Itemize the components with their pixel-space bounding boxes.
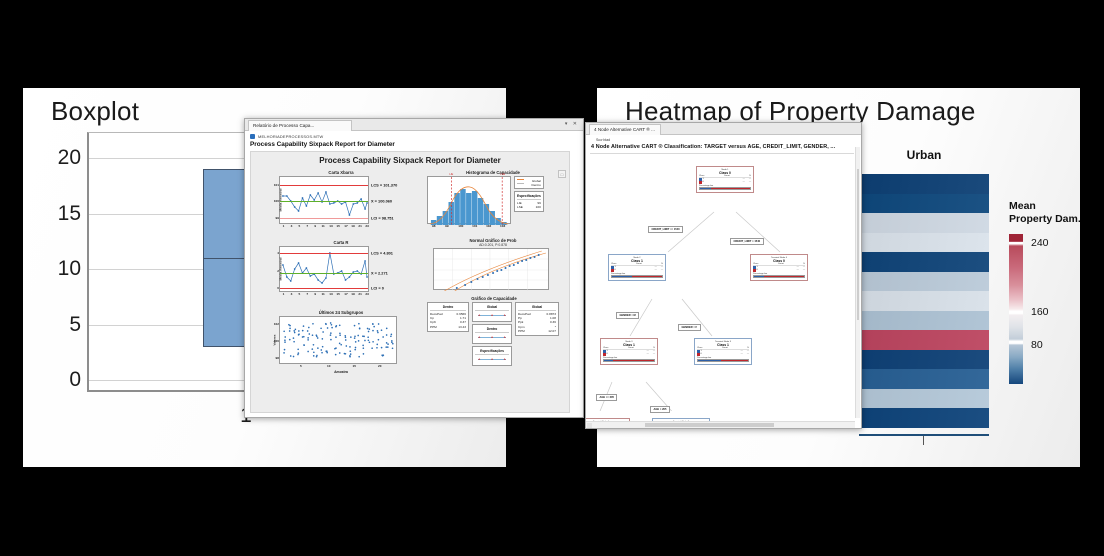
heatmap-column-label: Urban [859, 148, 989, 162]
overall-value-4: 12.07 [548, 329, 556, 333]
spec-label-lse: LSE [517, 205, 523, 209]
panel-scatter: Últimos 24 Subgrupos Valores 102 100 98 … [265, 310, 417, 374]
heatmap-cell [859, 291, 989, 311]
bar-tick-2a: + [478, 357, 480, 362]
rchart-lcl-line: LCI = 0 [280, 288, 368, 289]
tree-node-2[interactable]: Node 2 Class 1 Class Count % 1—— 0—— Per… [608, 254, 666, 281]
rchart-center-line: X = 2.271 [280, 273, 368, 274]
cart-body: Sco·blad 4 Node Alternative CART ® Class… [586, 135, 861, 428]
bar-tick-1a: + [478, 335, 480, 340]
node-4-h-pct: % [653, 347, 655, 349]
node-root-row-1: 0—— [699, 181, 751, 184]
rchart-xtick-13: 13 [329, 292, 332, 296]
node-3-h-pct: % [803, 263, 805, 265]
capability-bars: Global + + + Dentro [472, 302, 512, 366]
cart-tree-canvas: Node 1 Class 0 Class Count % 1—— 0—— Per… [590, 153, 854, 411]
within-stats-title: Dentro [430, 305, 466, 311]
heatmap-axis-line [859, 434, 989, 436]
xbar-xtick-11: 11 [321, 224, 324, 228]
split-label-5: AGE > 205 [650, 406, 670, 413]
rchart-ytick-4: 4 [277, 251, 279, 255]
xbar-lcl-label: LCI = 98.751 [371, 216, 394, 221]
spec-table: Especificações LIE 99 LSE 100 [514, 191, 544, 211]
worksheet-icon [250, 134, 255, 139]
y-tick-10: 10 [58, 257, 81, 281]
scatter-ytick-102: 102 [274, 322, 279, 326]
histogram-lie-mark: LIE [449, 173, 453, 176]
histogram-bars [428, 177, 510, 225]
histogram-title: Histograma de Capacidade [427, 170, 559, 175]
legend-title-line2: Property Dam... [1009, 213, 1080, 226]
legend-colorbar-wrap: 240 160 80 [1009, 234, 1080, 384]
legend-tick-80: 80 [1031, 339, 1043, 351]
tree-node-5[interactable]: Terminal Node 3 Class 1 Class Count % 1—… [694, 338, 752, 365]
within-stats-table: Dentro DesvPad 0.9566 Cp 1.71 [427, 302, 469, 332]
hist-xtick-101: 101 [472, 224, 477, 228]
xbar-xtick-19: 19 [351, 224, 354, 228]
page-title: Boxplot [51, 96, 139, 127]
node-5-h-count: Count [722, 347, 728, 349]
within-label-3: PPM [430, 325, 437, 329]
heatmap-cell [859, 408, 989, 428]
report-canvas: Process Capability Sixpack Report for Di… [250, 151, 570, 413]
cart-heading: 4 Node Alternative CART ® Classification… [586, 142, 861, 153]
hist-xtick-100: 100 [458, 224, 463, 228]
node-5-h-class: Class [697, 347, 702, 349]
cart-hscroll-left-button[interactable] [587, 423, 592, 428]
minitab-body: MELHORIADEPROCESSOS.MTW Process Capabili… [245, 131, 583, 417]
split-label-3: GENDER = F [678, 324, 701, 331]
rchart-xtick-21: 21 [358, 292, 361, 296]
node-4-h-count: Count [628, 347, 634, 349]
scatter-ytick-100: 100 [274, 339, 279, 343]
screen: Boxplot 0 5 10 15 20 [0, 0, 1104, 556]
heatmap-cell [859, 272, 989, 292]
bar-tick-1c: + [504, 335, 506, 340]
heatmap-cells [859, 174, 989, 428]
node-root-h-count: Count [724, 175, 730, 177]
xbar-xtick-23: 23 [365, 224, 368, 228]
bar-tick-1b: + [491, 335, 493, 340]
capability-bar-global: Global + + + [472, 302, 512, 322]
xbar-ucl-label: LCS = 101.370 [371, 183, 397, 188]
node-5-h-pct: % [747, 347, 749, 349]
heatmap-cell [859, 330, 989, 350]
heatmap-cell [859, 213, 989, 233]
xbar-xtick-5: 5 [298, 224, 300, 228]
panel-histogram: Histograma de Capacidade LIE LSE [427, 170, 559, 224]
node-4-bar [603, 359, 655, 362]
node-2-h-pct: % [661, 263, 663, 265]
rchart-xtick-11: 11 [321, 292, 324, 296]
xbar-title: Carta Xbarra [265, 170, 417, 175]
spec-row-lse: LSE 100 [517, 205, 541, 209]
rchart-ucl-line: LCS = 4.801 [280, 253, 368, 254]
capability-bar-track-0: + + + [476, 313, 508, 318]
scatter-xtick-5: 5 [300, 364, 302, 368]
capability-bar-track-1: + + + [476, 335, 508, 340]
histogram-plot: LIE LSE [427, 176, 511, 224]
overall-stats-title: Global [518, 305, 556, 311]
heatmap-cell [859, 174, 989, 194]
bar-tick-0a: + [478, 313, 480, 318]
tab-close-icon[interactable]: ▾ ✕ [565, 121, 579, 127]
node-4-row-1: 0—— [603, 353, 655, 356]
report-heading: Process Capability Sixpack Report for Di… [245, 140, 583, 151]
bar-tick-2b: + [491, 357, 493, 362]
hist-xtick-98: 98 [432, 224, 435, 228]
rchart-plot: Média Amostral 4 2 0 LCS = 4.801 X = 2.2… [279, 246, 369, 292]
scatter-title: Últimos 24 Subgrupos [265, 310, 417, 315]
overall-label-4: PPM [518, 329, 525, 333]
xbar-ytick-100: 100 [274, 199, 279, 203]
node-root-h-pct: % [749, 175, 751, 177]
minitab-tabstrip: Relatório de Processo Capa... ▾ ✕ [245, 119, 583, 131]
xbar-xtick-1: 1 [283, 224, 285, 228]
node-5-row-1: 0—— [697, 353, 749, 356]
scatter-xtick-20: 20 [378, 364, 381, 368]
xbar-ytick-99: 99 [276, 216, 279, 220]
within-row-3: PPM 13.43 [430, 325, 466, 329]
xbar-ylabel: Média Amostral [278, 189, 282, 212]
y-tick-0: 0 [69, 368, 81, 392]
tree-node-3[interactable]: Terminal Node 4 Class 0 Class Count % 1—… [750, 254, 808, 281]
capability-bar-label-2: Especificações [475, 349, 509, 355]
heatmap-cell [859, 252, 989, 272]
worksheet-row: MELHORIADEPROCESSOS.MTW [245, 131, 583, 140]
capability-bar-label-0: Global [475, 305, 509, 311]
legend-row-dentro: Dentro [517, 183, 541, 187]
probplot-plot [433, 248, 549, 290]
capability-bar-spec: Especificações + + + [472, 346, 512, 366]
scatter-points [280, 317, 396, 365]
rchart-xtick-23: 23 [365, 292, 368, 296]
legend-line-global [517, 179, 524, 180]
cart-window[interactable]: 4 Node Alternative CART ® ... Sco·blad 4… [585, 122, 862, 429]
xbar-plot: Média Amostral 101 100 99 LCS = 101.370 … [279, 176, 369, 224]
tab-cart-classification[interactable]: 4 Node Alternative CART ® ... [589, 124, 661, 135]
rchart-xtick-19: 19 [351, 292, 354, 296]
histogram-lse-mark: LSE [500, 173, 505, 176]
spec-table-title: Especificações [517, 194, 541, 200]
y-tick-20: 20 [58, 146, 81, 170]
tab-process-capability[interactable]: Relatório de Processo Capa... [248, 120, 352, 131]
xbar-xtick-13: 13 [329, 224, 332, 228]
rchart-xtick-5: 5 [298, 292, 300, 296]
xbar-lcl-line: LCI = 98.751 [280, 218, 368, 219]
cart-horizontal-scrollbar[interactable] [586, 421, 855, 428]
y-tick-15: 15 [58, 202, 81, 226]
overall-row-4: PPM 12.07 [518, 329, 556, 333]
rchart-xtick-3: 3 [291, 292, 293, 296]
rchart-center-label: X = 2.271 [371, 271, 388, 276]
sixpack-grid: Carta Xbarra Média Amostral 101 100 99 L… [251, 168, 569, 404]
panel-rchart: Carta R Média Amostral 4 2 0 LCS = 4.801… [265, 240, 417, 292]
rchart-xtick-15: 15 [336, 292, 339, 296]
xbar-xtick-7: 7 [306, 224, 308, 228]
legend-colorbar [1009, 234, 1023, 384]
cart-section-label: Sco·blad [586, 135, 861, 142]
heatmap-legend: Mean Property Dam... 240 160 80 [1009, 200, 1080, 384]
legend-line-dentro [517, 183, 524, 184]
scatter-ytick-98: 98 [276, 356, 279, 360]
hist-xtick-102: 102 [486, 224, 491, 228]
scatter-xtick-10: 10 [327, 364, 330, 368]
probplot-series [434, 249, 548, 291]
rchart-xtick-7: 7 [306, 292, 308, 296]
node-root-bar [699, 187, 751, 190]
capability-bar-track-2: + + + [476, 357, 508, 362]
node-2-h-count: Count [636, 263, 642, 265]
hist-xtick-103: 103 [500, 224, 505, 228]
legend-title-line1: Mean [1009, 200, 1080, 213]
scatter-xlabel: Amostra [265, 370, 417, 374]
heatmap-cell [859, 311, 989, 331]
xbar-xtick-15: 15 [336, 224, 339, 228]
xbar-center-label: X = 100.060 [371, 199, 392, 204]
heatmap-cell [859, 369, 989, 389]
y-tick-5: 5 [69, 313, 81, 337]
rchart-ucl-label: LCS = 4.801 [371, 251, 393, 256]
cart-tabstrip: 4 Node Alternative CART ® ... [586, 123, 861, 135]
heatmap-axis-tick [923, 436, 924, 445]
rchart-xtick-1: 1 [283, 292, 285, 296]
bar-tick-2c: + [504, 357, 506, 362]
rchart-ytick-2: 2 [277, 269, 279, 273]
rchart-ytick-0: 0 [277, 286, 279, 290]
node-4-h-class: Class [603, 347, 608, 349]
histogram-legend: Global Dentro Especificações [514, 176, 544, 224]
minitab-window[interactable]: Relatório de Processo Capa... ▾ ✕ MELHOR… [244, 118, 584, 418]
node-2-row-1: 0—— [611, 269, 663, 272]
probplot-subtitle: AD:0.201, P:0.878 [427, 243, 559, 247]
within-value-3: 13.43 [458, 325, 466, 329]
heatmap-cell [859, 350, 989, 370]
split-label-1: CREDIT_LIMIT > 1540 [730, 238, 764, 245]
xbar-xtick-17: 17 [344, 224, 347, 228]
legend-label-dentro: Dentro [532, 183, 541, 187]
split-label-4: AGE <= 205 [596, 394, 617, 401]
legend-tick-160: 160 [1031, 306, 1049, 318]
rchart-title: Carta R [265, 240, 417, 245]
hist-xtick-99: 99 [445, 224, 448, 228]
scatter-plot: Valores 102 100 98 5 10 15 20 [279, 316, 397, 364]
xbar-ytick-101: 101 [274, 183, 279, 187]
worksheet-name: MELHORIADEPROCESSOS.MTW [258, 134, 323, 139]
node-3-row-1: 0—— [753, 269, 805, 272]
capability-bar-dentro: Dentro + + + [472, 324, 512, 344]
legend-tick-240: 240 [1031, 237, 1049, 249]
split-label-0: CREDIT_LIMIT <= 1540 [648, 226, 683, 233]
cart-vscroll-thumb[interactable] [857, 169, 859, 321]
xbar-ucl-line: LCS = 101.370 [280, 185, 368, 186]
tree-node-4[interactable]: Node 3 Class 1 Class Count % 1—— 0—— Per… [600, 338, 658, 365]
report-canvas-title: Process Capability Sixpack Report for Di… [251, 152, 569, 168]
node-3-h-class: Class [753, 263, 758, 265]
node-2-h-class: Class [611, 263, 616, 265]
node-root-h-class: Class [699, 175, 704, 177]
panel-probplot: Normal Gráfico de Prob AD:0.201, P:0.878 [427, 238, 559, 290]
capability-title: Gráfico de Capacidade [427, 296, 561, 301]
panel-xbar: Carta Xbarra Média Amostral 101 100 99 L… [265, 170, 417, 224]
xbar-xtick-9: 9 [314, 224, 316, 228]
heatmap-cell [859, 233, 989, 253]
rchart-xtick-9: 9 [314, 292, 316, 296]
heatmap-cell [859, 194, 989, 214]
legend-title: Mean Property Dam... [1009, 200, 1080, 226]
tree-node-root[interactable]: Node 1 Class 0 Class Count % 1—— 0—— Per… [696, 166, 754, 193]
xbar-center-line: X = 100.060 [280, 201, 368, 202]
node-3-bar [753, 275, 805, 278]
split-label-2: GENDER = M [616, 312, 639, 319]
spec-value-lse: 100 [536, 205, 541, 209]
heatmap-cell [859, 389, 989, 409]
cart-vertical-scrollbar[interactable] [855, 147, 860, 418]
bar-tick-0c: + [504, 313, 506, 318]
xbar-xtick-3: 3 [291, 224, 293, 228]
bar-tick-0b: + [491, 313, 493, 318]
rchart-series [280, 247, 368, 293]
capability-bar-label-1: Dentro [475, 327, 509, 333]
cart-hscroll-thumb[interactable] [645, 423, 774, 427]
panel-capability: Gráfico de Capacidade Dentro DesvPad 0.9… [427, 296, 561, 366]
node-2-bar [611, 275, 663, 278]
overall-stats-table: Global DesvPad 0.8873 Pp 1.08 [515, 302, 559, 336]
node-3-h-count: Count [778, 263, 784, 265]
rchart-lcl-label: LCI = 0 [371, 286, 384, 291]
node-5-bar [697, 359, 749, 362]
rchart-xtick-17: 17 [344, 292, 347, 296]
histogram-legend-box: Global Dentro [514, 176, 544, 189]
xbar-xtick-21: 21 [358, 224, 361, 228]
scatter-xtick-15: 15 [353, 364, 356, 368]
